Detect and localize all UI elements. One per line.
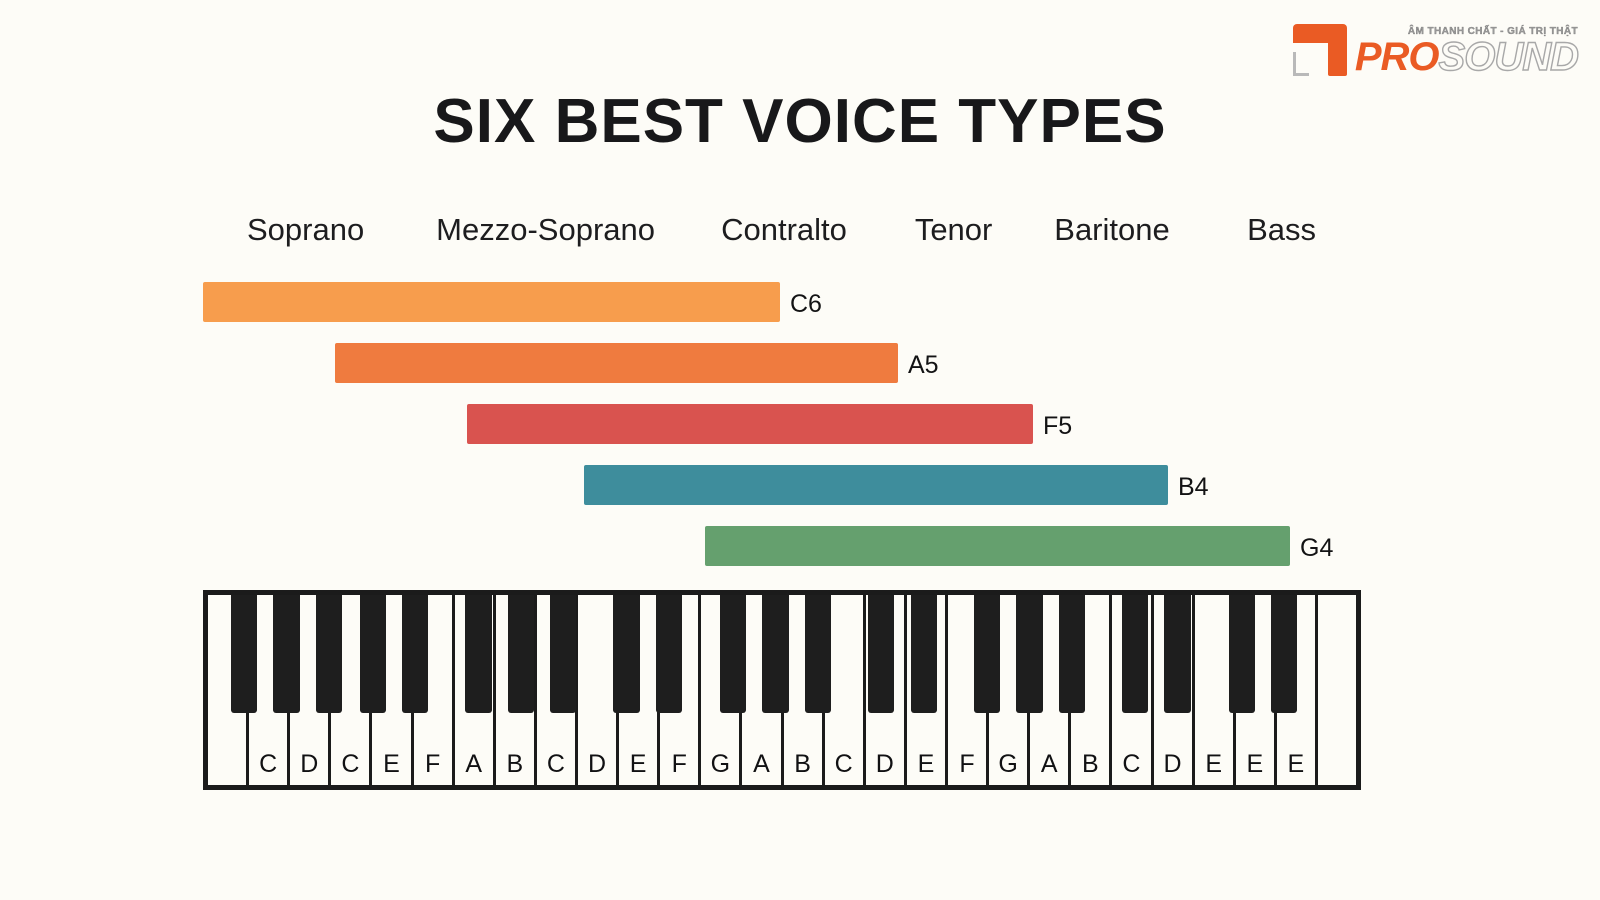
- piano-black-key[interactable]: [762, 595, 788, 713]
- voice-range-bar[interactable]: [705, 526, 1290, 566]
- logo-mark-outline: [1293, 52, 1309, 76]
- piano-black-key[interactable]: [1271, 595, 1297, 713]
- piano-black-key[interactable]: [465, 595, 491, 713]
- voice-type-label: Bass: [1247, 212, 1316, 248]
- piano-black-key[interactable]: [974, 595, 1000, 713]
- voice-type-label-row: SopranoMezzo-SopranoContraltoTenorBarito…: [0, 212, 1600, 258]
- piano-black-key[interactable]: [911, 595, 937, 713]
- piano-key-label: D: [1164, 752, 1182, 777]
- piano-key-label: C: [1122, 752, 1140, 777]
- piano-key-label: C: [547, 752, 565, 777]
- logo-mark-stem: [1328, 24, 1347, 76]
- piano-black-key[interactable]: [316, 595, 342, 713]
- prosound-logo-icon: [1293, 24, 1351, 76]
- voice-range-bar-row: B4: [584, 465, 1288, 505]
- piano-key-label: B: [1082, 752, 1099, 777]
- piano-key-label: D: [300, 752, 318, 777]
- piano-key-label: E: [918, 752, 935, 777]
- piano-key-label: E: [1205, 752, 1222, 777]
- voice-range-bar-chart: C6A5F5B4G4: [0, 282, 1600, 572]
- voice-range-bar[interactable]: [203, 282, 780, 322]
- voice-range-bar-row: A5: [335, 343, 1018, 383]
- piano-black-key[interactable]: [402, 595, 428, 713]
- piano-black-key[interactable]: [1164, 595, 1190, 713]
- logo-name-pro: PRO: [1355, 35, 1439, 79]
- voice-range-bar[interactable]: [467, 404, 1033, 444]
- piano-key-label: D: [588, 752, 606, 777]
- voice-range-bar[interactable]: [335, 343, 898, 383]
- voice-range-top-note-label: C6: [790, 290, 822, 319]
- piano-key-label: E: [383, 752, 400, 777]
- piano-black-key[interactable]: [1059, 595, 1085, 713]
- page-title: SIX BEST VOICE TYPES: [0, 86, 1600, 157]
- voice-range-bar-row: G4: [705, 526, 1410, 566]
- piano-key-label: G: [998, 752, 1017, 777]
- piano-key-label: A: [465, 752, 482, 777]
- voice-range-top-note-label: B4: [1178, 473, 1209, 502]
- piano-black-key[interactable]: [613, 595, 639, 713]
- voice-type-label: Contralto: [721, 212, 847, 248]
- piano-key-label: G: [711, 752, 730, 777]
- piano-black-key[interactable]: [1016, 595, 1042, 713]
- piano-black-key[interactable]: [360, 595, 386, 713]
- piano-key-label: A: [1041, 752, 1058, 777]
- logo-name: PROSOUND: [1355, 38, 1578, 76]
- piano-key-label: C: [341, 752, 359, 777]
- logo-wordmark: ÂM THANH CHẤT - GIÁ TRỊ THẬT PROSOUND: [1355, 27, 1578, 76]
- piano-black-key[interactable]: [868, 595, 894, 713]
- voice-range-top-note-label: F5: [1043, 412, 1072, 441]
- piano-key-label: C: [259, 752, 277, 777]
- piano-black-key[interactable]: [805, 595, 831, 713]
- piano-white-key[interactable]: [1318, 595, 1356, 785]
- piano-black-key[interactable]: [550, 595, 576, 713]
- piano-key-label: B: [794, 752, 811, 777]
- piano-black-key[interactable]: [508, 595, 534, 713]
- piano-key-label: E: [1246, 752, 1263, 777]
- voice-range-bar-row: C6: [203, 282, 900, 322]
- piano-key-label: F: [672, 752, 687, 777]
- voice-range-top-note-label: A5: [908, 351, 939, 380]
- voice-range-bar-row: F5: [467, 404, 1153, 444]
- piano-black-key[interactable]: [720, 595, 746, 713]
- voice-type-label: Baritone: [1054, 212, 1169, 248]
- piano-key-label: F: [425, 752, 440, 777]
- voice-range-bar[interactable]: [584, 465, 1168, 505]
- piano-black-key[interactable]: [1229, 595, 1255, 713]
- piano-key-label: F: [959, 752, 974, 777]
- piano-key-label: D: [876, 752, 894, 777]
- piano-key-label: B: [506, 752, 523, 777]
- piano-key-label: E: [630, 752, 647, 777]
- voice-range-top-note-label: G4: [1300, 534, 1333, 563]
- piano-black-key-row: [208, 595, 1356, 713]
- logo-name-sound: SOUND: [1439, 35, 1578, 79]
- piano-key-label: E: [1288, 752, 1305, 777]
- piano-key-label: A: [753, 752, 770, 777]
- piano-black-key[interactable]: [273, 595, 299, 713]
- piano-black-key[interactable]: [231, 595, 257, 713]
- voice-type-label: Soprano: [247, 212, 364, 248]
- piano-black-key[interactable]: [656, 595, 682, 713]
- piano-key-label: C: [835, 752, 853, 777]
- piano-black-key[interactable]: [1122, 595, 1148, 713]
- brand-logo: ÂM THANH CHẤT - GIÁ TRỊ THẬT PROSOUND: [1293, 14, 1578, 76]
- voice-type-label: Mezzo-Soprano: [436, 212, 655, 248]
- voice-type-label: Tenor: [915, 212, 993, 248]
- piano-keyboard: CDCEFABCDEFGABCDEFGABCDEEE: [203, 590, 1361, 790]
